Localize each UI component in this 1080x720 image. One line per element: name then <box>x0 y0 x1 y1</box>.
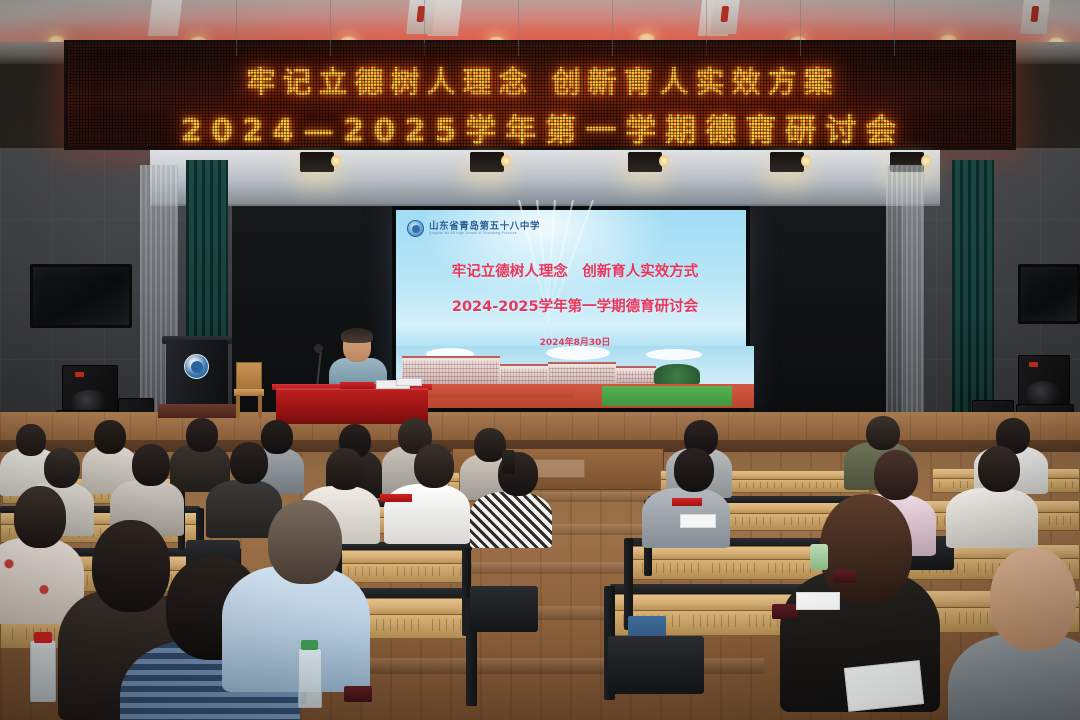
person-head <box>990 548 1076 650</box>
bottle-cap <box>301 640 318 650</box>
person-head <box>674 448 714 492</box>
person-head <box>92 520 170 612</box>
person-torso <box>222 566 370 692</box>
photo-court <box>424 386 574 398</box>
smartphone <box>344 686 372 702</box>
thermos-cup <box>502 450 515 474</box>
slide-campus-photo <box>396 346 754 408</box>
photo-cloud <box>646 349 702 360</box>
aisle-step <box>364 658 764 674</box>
stage-spotlight <box>300 152 334 172</box>
person-head <box>874 450 918 500</box>
rail-divider <box>518 0 519 56</box>
photo-building <box>616 366 656 384</box>
school-name-en: Qingdao No.58 High School of Shandong Pr… <box>429 231 540 235</box>
person-head <box>186 418 218 452</box>
thermos-cup <box>810 544 828 570</box>
led-banner-line-2: 2024—2025学年第一学期德育研讨会 <box>67 105 1016 150</box>
lectern-base <box>158 404 236 418</box>
person-torso <box>470 492 552 548</box>
desk-surface <box>320 550 472 564</box>
photo-cloud <box>546 346 610 360</box>
seat-back <box>470 586 538 632</box>
person-head <box>94 420 126 454</box>
stage-recess-right <box>750 206 902 412</box>
person-head <box>326 448 364 490</box>
speaker-power-led <box>75 372 84 377</box>
ceiling-panel <box>148 0 182 36</box>
rail-divider <box>424 0 425 56</box>
auditorium-photo: 牢记立德树人理念 创新育人实效方案 2024—2025学年第一学期德育研讨会 <box>0 0 1080 720</box>
person-head <box>414 444 454 488</box>
rail-divider <box>236 0 237 56</box>
chair-leg <box>236 395 240 418</box>
wooden-chair <box>234 362 264 418</box>
stage-spotlight <box>628 152 662 172</box>
person-head <box>230 442 268 484</box>
photo-building <box>500 364 548 386</box>
school-crest-icon <box>407 220 424 237</box>
ceiling-vent <box>406 0 436 34</box>
left-wall-tv <box>30 264 132 328</box>
person-torso <box>384 484 470 544</box>
rail-divider <box>706 0 707 56</box>
sheer-curtain-right <box>886 165 924 415</box>
rail-divider <box>800 0 801 56</box>
person-head <box>866 416 900 450</box>
led-banner-line-1: 牢记立德树人理念 创新育人实效方案 <box>67 59 1016 101</box>
stage-light-rail <box>150 150 940 206</box>
person-head <box>978 446 1020 492</box>
seat-back <box>608 636 704 694</box>
chair-back <box>236 362 262 390</box>
photo-football-field <box>602 386 732 406</box>
chair-leg <box>258 395 262 418</box>
rail-divider <box>612 0 613 56</box>
photo-building <box>548 362 616 386</box>
red-folder <box>672 498 702 506</box>
speaker-power-led <box>1029 362 1038 367</box>
notebook-page <box>680 514 716 528</box>
school-emblem-icon <box>184 354 209 379</box>
head-table <box>276 388 428 424</box>
slide-title-line-2: 2024-2025学年第一学期德育研讨会 <box>396 295 754 316</box>
ceiling-vent <box>710 0 740 34</box>
water-bottle <box>30 640 56 702</box>
school-logo: 山东省青岛第五十八中学 Qingdao No.58 High School of… <box>407 220 540 237</box>
smartphone <box>834 570 856 583</box>
microphone-icon <box>314 344 323 353</box>
water-bottle <box>298 648 322 708</box>
photo-trees <box>654 364 700 386</box>
person-head <box>44 448 80 488</box>
stage-spotlight <box>470 152 504 172</box>
notebook-page <box>796 592 840 610</box>
person-torso <box>946 488 1038 548</box>
person-head <box>16 424 46 456</box>
person-head <box>820 494 912 604</box>
rail-divider <box>330 0 331 56</box>
bottle-cap <box>34 632 52 643</box>
slide-title-line-1: 牢记立德树人理念 创新育人实效方式 <box>396 260 754 281</box>
person-head <box>261 420 293 454</box>
stage-spotlight <box>770 152 804 172</box>
right-pa-speaker-top <box>1018 355 1070 411</box>
projection-screen: 山东省青岛第五十八中学 Qingdao No.58 High School of… <box>392 206 750 412</box>
person-head <box>14 486 66 548</box>
notebook-page <box>844 660 924 712</box>
presenter-hair <box>341 328 373 343</box>
person-head <box>132 444 170 486</box>
table-papers <box>396 378 422 386</box>
stage-curtain-right <box>952 160 994 422</box>
rail-divider <box>894 0 895 56</box>
red-folder <box>340 382 374 389</box>
person-head <box>268 500 342 584</box>
led-banner: 牢记立德树人理念 创新育人实效方案 2024—2025学年第一学期德育研讨会 <box>64 40 1016 150</box>
red-folder <box>380 494 412 502</box>
smartphone <box>772 604 798 619</box>
right-wall-tv <box>1018 264 1080 324</box>
ceiling-vent <box>1020 0 1050 34</box>
